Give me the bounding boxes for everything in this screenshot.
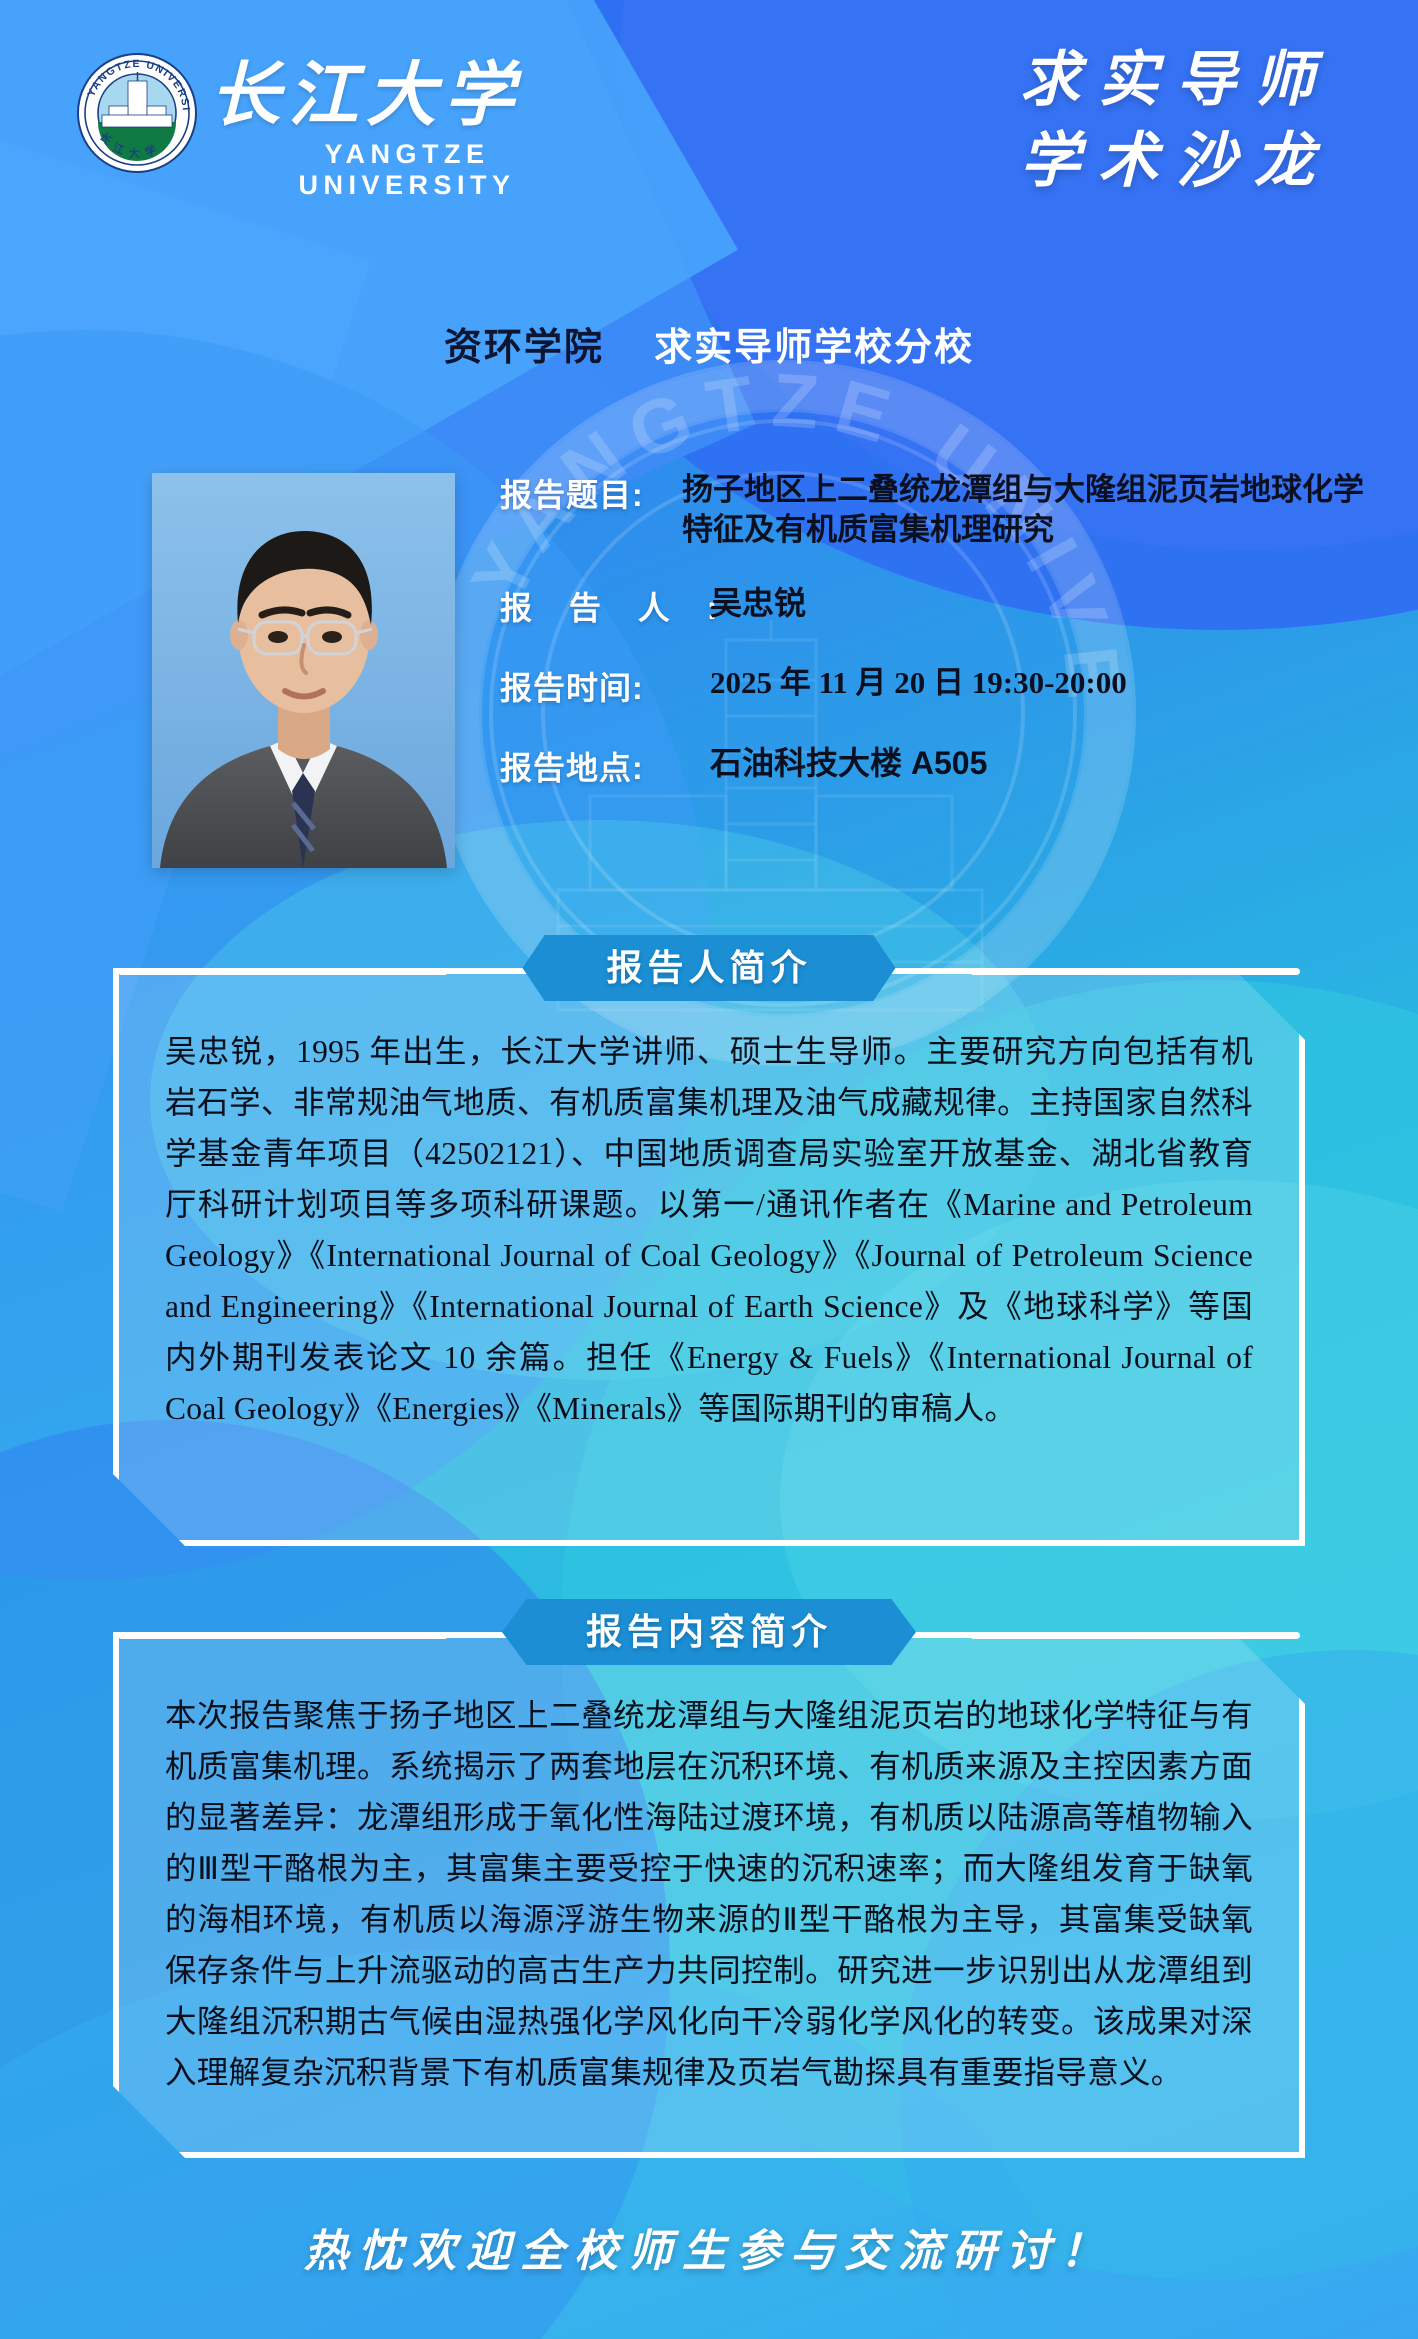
content-summary-ribbon: 报告内容简介	[0, 1600, 1418, 1664]
event-info: 报告题目: 扬子地区上二叠统龙潭组与大隆组泥页岩地球化学特征及有机质富集机理研究…	[500, 470, 1380, 823]
subtitle-program: 求实导师学校分校	[654, 327, 974, 369]
info-label-speaker: 报 告 人 :	[500, 583, 682, 629]
ribbon-line-left-1	[118, 968, 448, 975]
yangtze-university-seal-icon: YANGTZE UNIVERSITY 长江大学	[76, 52, 198, 174]
speaker-bio-card-inner: 吴忠锐，1995 年出生，长江大学讲师、硕士生导师。主要研究方向包括有机岩石学、…	[119, 974, 1299, 1540]
speaker-bio-card: 吴忠锐，1995 年出生，长江大学讲师、硕士生导师。主要研究方向包括有机岩石学、…	[113, 968, 1305, 1546]
university-wordmark: 长江大学 YANGTZE UNIVERSITY	[210, 58, 600, 201]
info-label-title: 报告题目:	[500, 470, 682, 516]
info-value-time: 2025 年 11 月 20 日 19:30-20:00	[682, 663, 1380, 703]
footer-invitation: 热忱欢迎全校师生参与交流研讨！	[0, 2215, 1418, 2279]
speaker-bio-heading: 报告人简介	[522, 935, 895, 1002]
poster-header: YANGTZE UNIVERSITY 长江大学 长江大学 YANGTZE UNI…	[0, 0, 1418, 300]
university-name-cn: 长江大学	[210, 58, 600, 135]
info-row-venue: 报告地点: 石油科技大楼 A505	[500, 743, 1380, 789]
salon-title: 求实导师 学术沙龙	[1020, 40, 1332, 202]
info-label-time: 报告时间:	[500, 663, 682, 709]
event-subtitle: 资环学院 求实导师学校分校	[0, 316, 1418, 371]
poster-root: YANGTZE UNIVERSITY	[0, 0, 1418, 2339]
ribbon-line-left-2	[118, 1632, 448, 1639]
info-value-speaker: 吴忠锐	[682, 583, 1380, 624]
content-summary-heading: 报告内容简介	[502, 1599, 916, 1666]
info-row-title: 报告题目: 扬子地区上二叠统龙潭组与大隆组泥页岩地球化学特征及有机质富集机理研究	[500, 470, 1380, 549]
salon-title-line1: 求实导师	[1020, 40, 1332, 121]
info-value-venue: 石油科技大楼 A505	[682, 743, 1380, 784]
ribbon-line-right-1	[970, 968, 1300, 975]
salon-title-line2: 学术沙龙	[1020, 121, 1332, 202]
speaker-portrait-icon	[152, 473, 455, 868]
content-summary-card-inner: 本次报告聚焦于扬子地区上二叠统龙潭组与大隆组泥页岩的地球化学特征与有机质富集机理…	[119, 1638, 1299, 2152]
ribbon-line-right-2	[970, 1632, 1300, 1639]
info-row-time: 报告时间: 2025 年 11 月 20 日 19:30-20:00	[500, 663, 1380, 709]
info-row-speaker: 报 告 人 : 吴忠锐	[500, 583, 1380, 629]
content-summary-card: 本次报告聚焦于扬子地区上二叠统龙潭组与大隆组泥页岩的地球化学特征与有机质富集机理…	[113, 1632, 1305, 2158]
info-label-venue: 报告地点:	[500, 743, 682, 789]
speaker-photo	[152, 473, 455, 868]
subtitle-college: 资环学院	[444, 327, 604, 369]
content-summary-text: 本次报告聚焦于扬子地区上二叠统龙潭组与大隆组泥页岩的地球化学特征与有机质富集机理…	[165, 1690, 1253, 2098]
speaker-bio-ribbon: 报告人简介	[0, 936, 1418, 1000]
university-name-en: YANGTZE UNIVERSITY	[210, 139, 600, 201]
info-value-title: 扬子地区上二叠统龙潭组与大隆组泥页岩地球化学特征及有机质富集机理研究	[682, 470, 1380, 549]
speaker-bio-text: 吴忠锐，1995 年出生，长江大学讲师、硕士生导师。主要研究方向包括有机岩石学、…	[165, 1026, 1253, 1434]
